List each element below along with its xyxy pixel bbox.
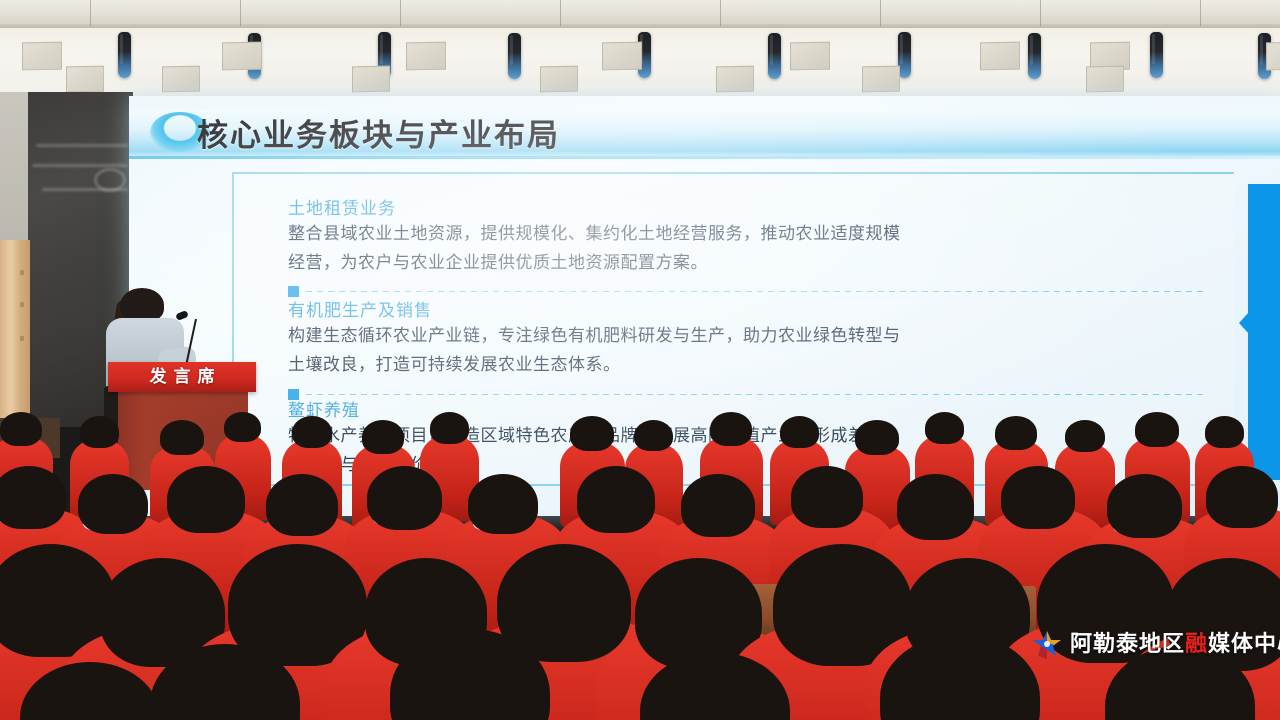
audience-head: [1107, 474, 1182, 538]
audience-head: [1135, 412, 1178, 447]
section-divider-1: [288, 285, 1206, 297]
wall-panel: [1086, 66, 1124, 93]
wall-panel: [66, 66, 104, 93]
audience-head: [1001, 466, 1075, 529]
ceiling-seam: [720, 0, 721, 26]
section-2-line-1: 构建生态循环农业产业链，专注绿色有机肥料研发与生产，助力农业绿色转型与: [288, 322, 1208, 351]
audience-head: [995, 416, 1037, 450]
podium-label: 发言席: [108, 362, 256, 392]
ceiling-seam: [1200, 0, 1201, 26]
audience-head: [224, 412, 261, 442]
wall-panel: [162, 66, 200, 93]
section-2-heading: 有机肥生产及销售: [288, 300, 1208, 322]
wall-panel: [352, 66, 390, 93]
broadcaster-logo-icon: [1030, 629, 1064, 661]
ceiling-seam: [560, 0, 561, 26]
audience-head: [570, 416, 613, 451]
ceiling-spotlight: [768, 33, 781, 79]
audience-head: [362, 420, 404, 454]
audience-head: [681, 474, 755, 537]
speaker-hair: [120, 288, 164, 322]
slide-section-2: 有机肥生产及销售 构建生态循环农业产业链，专注绿色有机肥料研发与生产，助力农业绿…: [288, 300, 1208, 380]
wall-panel: [602, 42, 642, 71]
ceiling-spotlight: [508, 33, 521, 79]
watermark-text-after: 媒体中心: [1208, 632, 1280, 657]
divider-bullet-square-icon: [288, 286, 299, 297]
section-1-line-2: 经营，为农户与农业企业提供优质土地资源配置方案。: [288, 249, 1208, 278]
audience-head: [1206, 466, 1278, 528]
audience-head: [710, 412, 752, 446]
audience-head: [80, 416, 120, 448]
broadcaster-name: 阿勒泰地区融媒体中心: [1070, 628, 1280, 662]
audience-head: [0, 466, 66, 529]
audience-head: [266, 474, 338, 536]
wall-panel: [1266, 42, 1280, 71]
divider-dashed-line: [306, 291, 1206, 292]
wall-panel: [222, 42, 262, 71]
audience-head: [367, 466, 442, 530]
audience-head: [167, 466, 245, 533]
wall-panel: [22, 42, 62, 71]
audience-head: [1065, 420, 1105, 452]
wall-panel: [716, 66, 754, 93]
audience-head: [780, 416, 820, 448]
wall-panel: [406, 42, 446, 71]
left-wall-grey: [0, 92, 30, 242]
audience-head: [1205, 416, 1245, 448]
ceiling-spotlight: [1028, 33, 1041, 79]
audience-head: [925, 412, 965, 444]
audience-head: [78, 474, 149, 534]
wall-panel: [540, 66, 578, 93]
slide-title: 核心业务板块与产业布局: [197, 114, 897, 158]
wall-panel: [862, 66, 900, 93]
section-1-line-1: 整合县域农业土地资源，提供规模化、集约化土地经营服务，推动农业适度规模: [288, 220, 1208, 249]
ceiling-seam: [240, 0, 241, 26]
presentation-scene: 核心业务板块与产业布局 土地租赁业务 整合县域农业土地资源，提供规模化、集约化土…: [0, 0, 1280, 720]
audience-head: [634, 420, 673, 451]
section-1-heading: 土地租赁业务: [288, 198, 1208, 220]
ceiling-seam: [400, 0, 401, 26]
ceiling-seam: [90, 0, 91, 26]
audience-head: [855, 420, 898, 455]
ceiling-spotlight: [1150, 32, 1163, 78]
wall-panel: [790, 42, 830, 71]
audience-head: [160, 420, 203, 455]
wall-panel: [980, 42, 1020, 71]
audience-area: [0, 394, 1280, 720]
audience-head: [897, 474, 974, 540]
watermark-text-highlight: 融: [1185, 632, 1208, 657]
ceiling-seam: [880, 0, 881, 26]
audience-head: [292, 416, 332, 448]
ceiling-seam: [1040, 0, 1041, 26]
ceiling-spotlight: [118, 32, 131, 78]
audience-head: [430, 412, 470, 444]
audience-head: [791, 466, 863, 528]
ceiling: [0, 0, 1280, 26]
slide-section-1: 土地租赁业务 整合县域农业土地资源，提供规模化、集约化土地经营服务，推动农业适度…: [288, 198, 1208, 278]
audience-head: [468, 474, 539, 534]
watermark-text-before: 阿勒泰地区: [1070, 632, 1185, 657]
audience-head: [577, 466, 655, 533]
section-2-line-2: 土壤改良，打造可持续发展农业生态体系。: [288, 351, 1208, 380]
broadcaster-watermark: 阿勒泰地区融媒体中心: [1030, 628, 1278, 662]
audience-head: [0, 412, 42, 446]
